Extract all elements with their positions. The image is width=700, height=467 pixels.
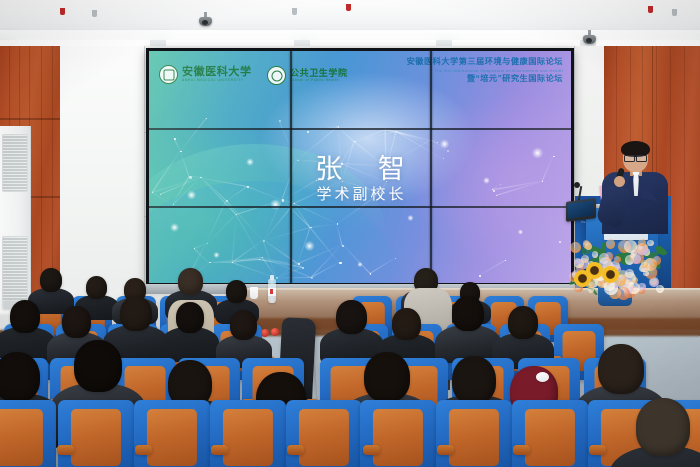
flower-petal xyxy=(625,269,634,278)
flower-petal xyxy=(656,285,664,293)
flower-petal xyxy=(643,271,648,276)
flower-petal xyxy=(647,240,654,247)
seat-back-wood xyxy=(373,409,423,465)
network-edge xyxy=(311,262,340,278)
ceiling-camera-icon xyxy=(199,17,212,26)
audience-person-head xyxy=(178,268,203,295)
flower-petal xyxy=(583,241,591,249)
ac-vent-grille xyxy=(2,134,28,192)
flower-petal xyxy=(588,287,594,293)
sprinkler-head-icon xyxy=(92,10,97,17)
sunflower-icon xyxy=(602,266,619,283)
wall-white-column xyxy=(60,46,144,314)
school-seal-icon xyxy=(267,66,286,85)
audience-person-head xyxy=(452,296,484,331)
seat-back-wood xyxy=(449,409,499,465)
eyeglasses-icon xyxy=(624,155,647,160)
network-edge xyxy=(276,277,311,278)
wall-seam xyxy=(144,46,145,314)
mic-stand-head-icon xyxy=(574,182,580,188)
seat-armrest xyxy=(513,445,530,454)
panel-bezel-horizontal xyxy=(149,128,571,130)
flower-petal xyxy=(606,239,616,249)
network-node-glow xyxy=(213,252,219,258)
audience-person-head xyxy=(392,308,421,340)
flower-petal xyxy=(581,255,589,263)
sprinkler-head-icon xyxy=(648,6,653,13)
audience-person-head xyxy=(74,340,122,392)
seat-back-wood xyxy=(71,409,121,465)
audience-person-head xyxy=(176,302,204,333)
network-edge xyxy=(231,212,237,262)
ceiling-camera-icon xyxy=(583,35,596,44)
audience-person-head xyxy=(120,296,152,331)
audience-person-head xyxy=(226,280,247,303)
seat-armrest xyxy=(287,445,304,454)
speaker-hand xyxy=(614,176,625,187)
logo-anhui-medical-university: 安徽医科大学 ANHUI MEDICAL UNIVERSITY xyxy=(159,65,252,84)
network-edge xyxy=(369,258,395,275)
seat-armrest xyxy=(57,445,74,454)
network-edge xyxy=(336,223,342,246)
video-wall-screen: 安徽医科大学 ANHUI MEDICAL UNIVERSITY 公共卫生学院 S… xyxy=(149,51,571,283)
seat-back xyxy=(512,400,588,467)
logo-en-text: School of Public Health xyxy=(290,79,348,82)
logo-school-of-public-health: 公共卫生学院 School of Public Health xyxy=(267,66,348,85)
seat-back xyxy=(134,400,210,467)
hair-clip xyxy=(536,372,549,382)
seat-back xyxy=(436,400,512,467)
audience-person-head xyxy=(336,300,367,334)
flower-petal xyxy=(638,283,645,290)
panel-bezel-horizontal xyxy=(149,206,571,208)
sprinkler-head-icon xyxy=(60,8,65,15)
seat-back-wood xyxy=(525,409,575,465)
flower-petal xyxy=(629,282,634,287)
audience-person-head xyxy=(636,398,690,456)
audience-person-head xyxy=(40,268,62,292)
audience-person-head xyxy=(230,310,257,340)
audience-person-head xyxy=(364,352,410,402)
seat-back xyxy=(210,400,286,467)
seat-back xyxy=(360,400,436,467)
audience-person-head xyxy=(598,344,644,394)
flower-petal xyxy=(641,260,649,268)
seat-back xyxy=(58,400,134,467)
slide-speaker-role: 学术副校长 xyxy=(149,183,571,204)
network-node-glow xyxy=(518,229,523,234)
network-edge xyxy=(478,260,505,276)
audience-person-head xyxy=(62,306,91,338)
paper-cup xyxy=(250,287,258,299)
seat-back xyxy=(0,400,56,467)
logo-cn-text: 安徽医科大学 xyxy=(182,67,252,78)
bottle-label xyxy=(268,288,276,296)
network-node-glow xyxy=(170,223,179,232)
slide-header: 安徽医科大学 ANHUI MEDICAL UNIVERSITY 公共卫生学院 S… xyxy=(149,51,571,109)
logo-en-text: ANHUI MEDICAL UNIVERSITY xyxy=(182,79,252,82)
network-node-glow xyxy=(304,241,314,251)
seat-armrest xyxy=(437,445,454,454)
panel-bezel-vertical xyxy=(430,51,432,283)
seat-back-wood xyxy=(147,409,197,465)
video-wall: 安徽医科大学 ANHUI MEDICAL UNIVERSITY 公共卫生学院 S… xyxy=(146,48,574,286)
sprinkler-head-icon xyxy=(346,4,351,11)
seat-armrest xyxy=(211,445,228,454)
water-bottle xyxy=(268,279,276,303)
seat-back-wood xyxy=(299,409,349,465)
slide-speaker-name: 张 智 xyxy=(149,147,571,186)
seat-back-wood xyxy=(0,409,43,465)
university-seal-icon xyxy=(159,65,178,84)
network-edge xyxy=(310,223,337,228)
seat-back xyxy=(286,400,362,467)
sprinkler-head-icon xyxy=(672,9,677,16)
audience-person-head xyxy=(0,352,40,402)
seat-armrest xyxy=(589,445,606,454)
flower-petal xyxy=(653,256,661,264)
flower-petal xyxy=(574,258,581,265)
sprinkler-head-icon xyxy=(292,8,297,15)
wood-seam xyxy=(0,118,60,120)
logo-cn-text: 公共卫生学院 xyxy=(290,69,348,78)
network-node-glow xyxy=(407,215,414,222)
network-edge xyxy=(206,214,237,245)
sunflower-icon xyxy=(574,270,591,287)
ac-vent-grille xyxy=(2,236,28,310)
panel-bezel-vertical xyxy=(290,51,292,283)
seat-armrest xyxy=(135,445,152,454)
network-edge xyxy=(341,244,370,275)
audience-person-head xyxy=(10,300,40,333)
flower-petal xyxy=(570,242,581,253)
seat-back-wood xyxy=(223,409,273,465)
flower-petal xyxy=(592,251,598,257)
conference-hall-photo: 安徽医科大学 ANHUI MEDICAL UNIVERSITY 公共卫生学院 S… xyxy=(0,0,700,467)
flower-petal xyxy=(638,239,646,247)
audience-person-head xyxy=(452,356,496,404)
audience-person-head xyxy=(86,276,107,299)
network-node xyxy=(559,241,561,243)
flower-arrangement xyxy=(568,218,664,292)
audience-person-head xyxy=(508,306,538,339)
seat-armrest xyxy=(363,445,380,454)
